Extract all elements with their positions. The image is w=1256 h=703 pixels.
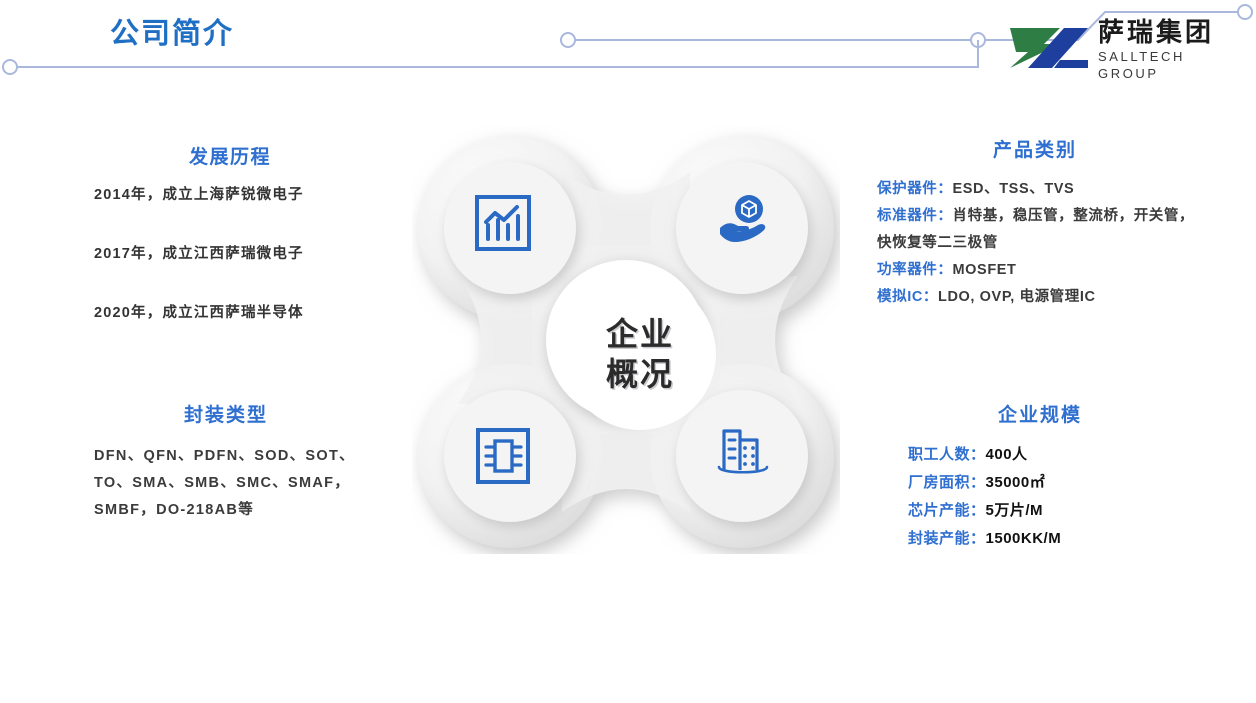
header-node-right <box>1238 5 1252 19</box>
scale-value: 400人 <box>986 446 1028 463</box>
company-logo: 萨瑞集团 SALLTECH GROUP <box>1008 18 1248 80</box>
history-item: 2017年，成立江西萨瑞微电子 <box>60 242 400 263</box>
header-node-middle <box>561 33 575 47</box>
scale-value: 35000㎡ <box>986 474 1046 491</box>
header-node-left <box>3 60 17 74</box>
panel-development-history: 发展历程 2014年，成立上海萨锐微电子 2017年，成立江西萨瑞微电子 202… <box>60 142 400 322</box>
product-category-list: 保护器件：ESD、TSS、TVS 标准器件：肖特基，稳压管，整流桥，开关管，快恢… <box>865 176 1205 311</box>
product-label: 模拟IC： <box>877 289 938 305</box>
product-row: 模拟IC：LDO, OVP, 电源管理IC <box>877 284 1205 311</box>
panel-title-history: 发展历程 <box>60 142 400 169</box>
product-value: ESD、TSS、TVS <box>953 181 1075 197</box>
panel-product-categories: 产品类别 保护器件：ESD、TSS、TVS 标准器件：肖特基，稳压管，整流桥，开… <box>865 135 1205 311</box>
center-hub-label: 企业 概况 <box>564 278 716 430</box>
product-row: 功率器件：MOSFET <box>877 257 1205 284</box>
page-title: 公司简介 <box>110 10 234 52</box>
history-item: 2020年，成立江西萨瑞半导体 <box>60 301 400 322</box>
hand-holding-box-icon[interactable] <box>708 188 778 258</box>
scale-label: 厂房面积： <box>908 474 986 491</box>
panel-title-products: 产品类别 <box>865 135 1205 162</box>
logo-name-cn: 萨瑞集团 <box>1098 18 1248 48</box>
logo-text: 萨瑞集团 SALLTECH GROUP <box>1098 18 1248 82</box>
scale-label: 芯片产能： <box>908 502 986 519</box>
product-label: 标准器件： <box>877 208 953 224</box>
logo-name-en: SALLTECH GROUP <box>1098 48 1248 82</box>
scale-row: 封装产能：1500KK/M <box>908 525 1190 553</box>
panel-company-scale: 企业规模 职工人数：400人 厂房面积：35000㎡ 芯片产能：5万片/M 封装… <box>890 400 1190 553</box>
product-label: 保护器件： <box>877 181 953 197</box>
logo-mark-icon <box>1008 22 1092 74</box>
package-types-text: DFN、QFN、PDFN、SOD、SOT、TO、SMA、SMB、SMC、SMAF… <box>56 443 396 524</box>
scale-label: 职工人数： <box>908 446 986 463</box>
history-list: 2014年，成立上海萨锐微电子 2017年，成立江西萨瑞微电子 2020年，成立… <box>60 183 400 322</box>
product-value: MOSFET <box>953 262 1017 278</box>
scale-value: 1500KK/M <box>986 530 1062 547</box>
scale-row: 职工人数：400人 <box>908 441 1190 469</box>
scale-row: 芯片产能：5万片/M <box>908 497 1190 525</box>
office-buildings-icon[interactable] <box>708 419 778 489</box>
product-label: 功率器件： <box>877 262 953 278</box>
history-item: 2014年，成立上海萨锐微电子 <box>60 183 400 204</box>
scale-value: 5万片/M <box>986 502 1044 519</box>
hub-line-1: 企业 <box>606 314 674 354</box>
panel-title-scale: 企业规模 <box>890 400 1190 427</box>
page-header: 公司简介 萨瑞集团 SALLTECH GROUP <box>0 0 1256 95</box>
panel-package-types: 封装类型 DFN、QFN、PDFN、SOD、SOT、TO、SMA、SMB、SMC… <box>56 400 396 524</box>
chip-package-icon[interactable] <box>468 421 538 491</box>
center-diagram: 企业 概况 <box>412 126 840 554</box>
bar-chart-icon[interactable] <box>468 188 538 258</box>
product-row: 保护器件：ESD、TSS、TVS <box>877 176 1205 203</box>
scale-label: 封装产能： <box>908 530 986 547</box>
hub-line-2: 概况 <box>606 354 674 394</box>
product-row: 标准器件：肖特基，稳压管，整流桥，开关管，快恢复等二三极管 <box>877 203 1205 257</box>
product-value: LDO, OVP, 电源管理IC <box>938 289 1096 305</box>
panel-title-package: 封装类型 <box>56 400 396 427</box>
company-scale-list: 职工人数：400人 厂房面积：35000㎡ 芯片产能：5万片/M 封装产能：15… <box>890 441 1190 553</box>
scale-row: 厂房面积：35000㎡ <box>908 469 1190 497</box>
